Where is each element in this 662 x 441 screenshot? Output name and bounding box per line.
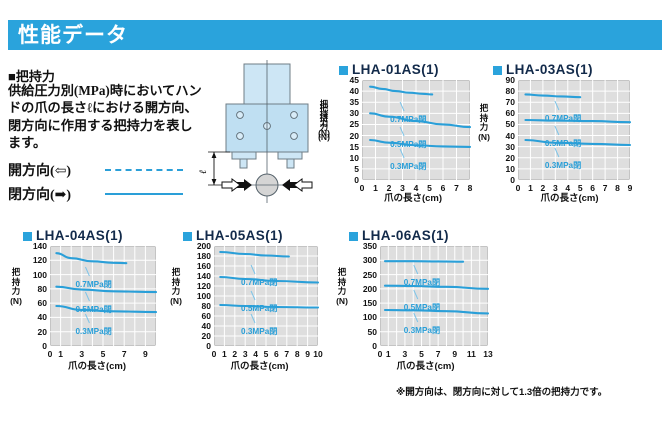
chart-y-axis-label: 把持力(N) <box>478 104 490 142</box>
y-axis-tick: 90 <box>492 76 515 85</box>
y-axis-tick: 40 <box>336 87 359 96</box>
series-label: 0.7MPa閉 <box>545 112 581 124</box>
x-axis-tick: 9 <box>622 184 638 193</box>
chart-title: LHA-04AS(1) <box>36 228 123 243</box>
y-axis-tick: 60 <box>492 109 515 118</box>
y-axis-tick: 70 <box>492 98 515 107</box>
x-axis-tick: 9 <box>447 350 463 359</box>
section-body-text: 供給圧力別(MPa)時においてハンドの爪の長さℓにおける開方向、閉方向に作用する… <box>8 82 204 152</box>
y-axis-tick: 20 <box>24 328 47 337</box>
x-axis-tick: 10 <box>310 350 326 359</box>
y-axis-tick: 80 <box>24 285 47 294</box>
x-axis-tick: 1 <box>53 350 69 359</box>
y-axis-tick: 40 <box>24 313 47 322</box>
y-axis-tick: 30 <box>492 143 515 152</box>
series-label: 0.5MPa閉 <box>404 301 440 313</box>
legend-label-close: 閉方向(➡) <box>8 184 71 204</box>
y-axis-tick: 140 <box>24 242 47 251</box>
y-axis-tick: 30 <box>336 109 359 118</box>
chart-y-axis-label: 把持力(N) <box>336 268 348 306</box>
chart-title: LHA-01AS(1) <box>352 62 439 77</box>
x-axis-tick: 9 <box>137 350 153 359</box>
x-axis-tick: 3 <box>397 350 413 359</box>
y-axis-tick: 10 <box>492 165 515 174</box>
y-axis-tick: 80 <box>492 87 515 96</box>
chart-lha-03as: LHA-03AS(1) 把持力(N) 爪の長さ(cm) 010203040506… <box>492 62 647 210</box>
chart-bullet-icon <box>349 232 358 241</box>
y-axis-tick: 350 <box>354 242 377 251</box>
series-label: 0.5MPa閉 <box>75 303 111 315</box>
y-axis-tick: 60 <box>188 312 211 321</box>
series-label: 0.5MPa閉 <box>545 137 581 149</box>
y-axis-tick: 160 <box>188 262 211 271</box>
chart-x-axis-label: 爪の長さ(cm) <box>22 358 172 372</box>
chart-y-axis-label: 把持力(N) <box>170 268 182 306</box>
series-label: 0.7MPa閉 <box>241 276 277 288</box>
y-axis-tick: 20 <box>188 332 211 341</box>
x-axis-tick: 7 <box>430 350 446 359</box>
y-axis-tick: 150 <box>354 299 377 308</box>
y-axis-tick: 300 <box>354 256 377 265</box>
legend-swatch-dashed <box>105 169 183 171</box>
chart-lha-01as: LHA-01AS(1) 把持力(N) 爪の長さ(cm) 051015202530… <box>338 62 488 210</box>
y-axis-tick: 80 <box>188 302 211 311</box>
y-axis-tick: 200 <box>354 285 377 294</box>
gripper-diagram: ℓ <box>200 60 335 205</box>
y-axis-tick: 200 <box>188 242 211 251</box>
y-axis-tick: 15 <box>336 143 359 152</box>
series-label: 0.7MPa閉 <box>390 113 426 125</box>
chart-bullet-icon <box>339 66 348 75</box>
y-axis-tick: 45 <box>336 76 359 85</box>
series-label: 0.3MPa閉 <box>390 160 426 172</box>
y-axis-tick: 60 <box>24 299 47 308</box>
series-label: 0.3MPa閉 <box>545 159 581 171</box>
chart-y-axis-label: 把持力(N) <box>318 104 330 142</box>
svg-text:ℓ: ℓ <box>198 170 209 174</box>
series-label: 0.3MPa閉 <box>241 325 277 337</box>
chart-y-axis-label: 把持力(N) <box>10 268 22 306</box>
y-axis-tick: 140 <box>188 272 211 281</box>
series-label: 0.3MPa閉 <box>75 325 111 337</box>
y-axis-tick: 20 <box>336 132 359 141</box>
y-axis-tick: 10 <box>336 154 359 163</box>
x-axis-tick: 8 <box>462 184 478 193</box>
chart-x-axis-label: 爪の長さ(cm) <box>182 358 337 372</box>
footnote: ※開方向は、閉方向に対して1.3倍の把持力です。 <box>396 384 607 398</box>
chart-bullet-icon <box>493 66 502 75</box>
datasheet-page: 性能データ ■把持力 供給圧力別(MPa)時においてハンドの爪の長さℓにおける開… <box>0 0 662 441</box>
y-axis-tick: 25 <box>336 120 359 129</box>
x-axis-tick: 11 <box>463 350 479 359</box>
chart-lha-05as: LHA-05AS(1) 把持力(N) 爪の長さ(cm) 020406080100… <box>182 228 337 378</box>
y-axis-tick: 35 <box>336 98 359 107</box>
x-axis-tick: 5 <box>95 350 111 359</box>
y-axis-tick: 120 <box>188 282 211 291</box>
x-axis-tick: 1 <box>380 350 396 359</box>
legend: 開方向(⇦) 閉方向(➡) <box>8 158 208 206</box>
y-axis-tick: 180 <box>188 252 211 261</box>
x-axis-tick: 13 <box>480 350 496 359</box>
y-axis-tick: 100 <box>24 271 47 280</box>
chart-bullet-icon <box>23 232 32 241</box>
series-label: 0.5MPa閉 <box>390 138 426 150</box>
legend-label-open: 開方向(⇦) <box>8 160 71 180</box>
y-axis-tick: 250 <box>354 271 377 280</box>
x-axis-tick: 3 <box>74 350 90 359</box>
chart-title: LHA-03AS(1) <box>506 62 593 77</box>
y-axis-tick: 20 <box>492 154 515 163</box>
chart-bullet-icon <box>183 232 192 241</box>
chart-lha-06as: LHA-06AS(1) 把持力(N) 爪の長さ(cm) 050100150200… <box>348 228 503 378</box>
y-axis-tick: 120 <box>24 256 47 265</box>
chart-x-axis-label: 爪の長さ(cm) <box>348 358 503 372</box>
y-axis-tick: 40 <box>492 132 515 141</box>
series-label: 0.7MPa閉 <box>75 278 111 290</box>
series-label: 0.3MPa閉 <box>404 324 440 336</box>
y-axis-tick: 5 <box>336 165 359 174</box>
legend-item-open: 開方向(⇦) <box>8 158 208 182</box>
y-axis-tick: 50 <box>354 328 377 337</box>
page-title: 性能データ <box>18 23 128 48</box>
legend-item-close: 閉方向(➡) <box>8 182 208 206</box>
y-axis-tick: 100 <box>354 313 377 322</box>
chart-lha-04as: LHA-04AS(1) 把持力(N) 爪の長さ(cm) 020406080100… <box>22 228 172 378</box>
series-label: 0.7MPa閉 <box>404 276 440 288</box>
x-axis-tick: 7 <box>116 350 132 359</box>
y-axis-tick: 50 <box>492 120 515 129</box>
series-label: 0.5MPa閉 <box>241 302 277 314</box>
y-axis-tick: 100 <box>188 292 211 301</box>
legend-swatch-solid <box>105 193 183 195</box>
x-axis-tick: 5 <box>414 350 430 359</box>
y-axis-tick: 40 <box>188 322 211 331</box>
